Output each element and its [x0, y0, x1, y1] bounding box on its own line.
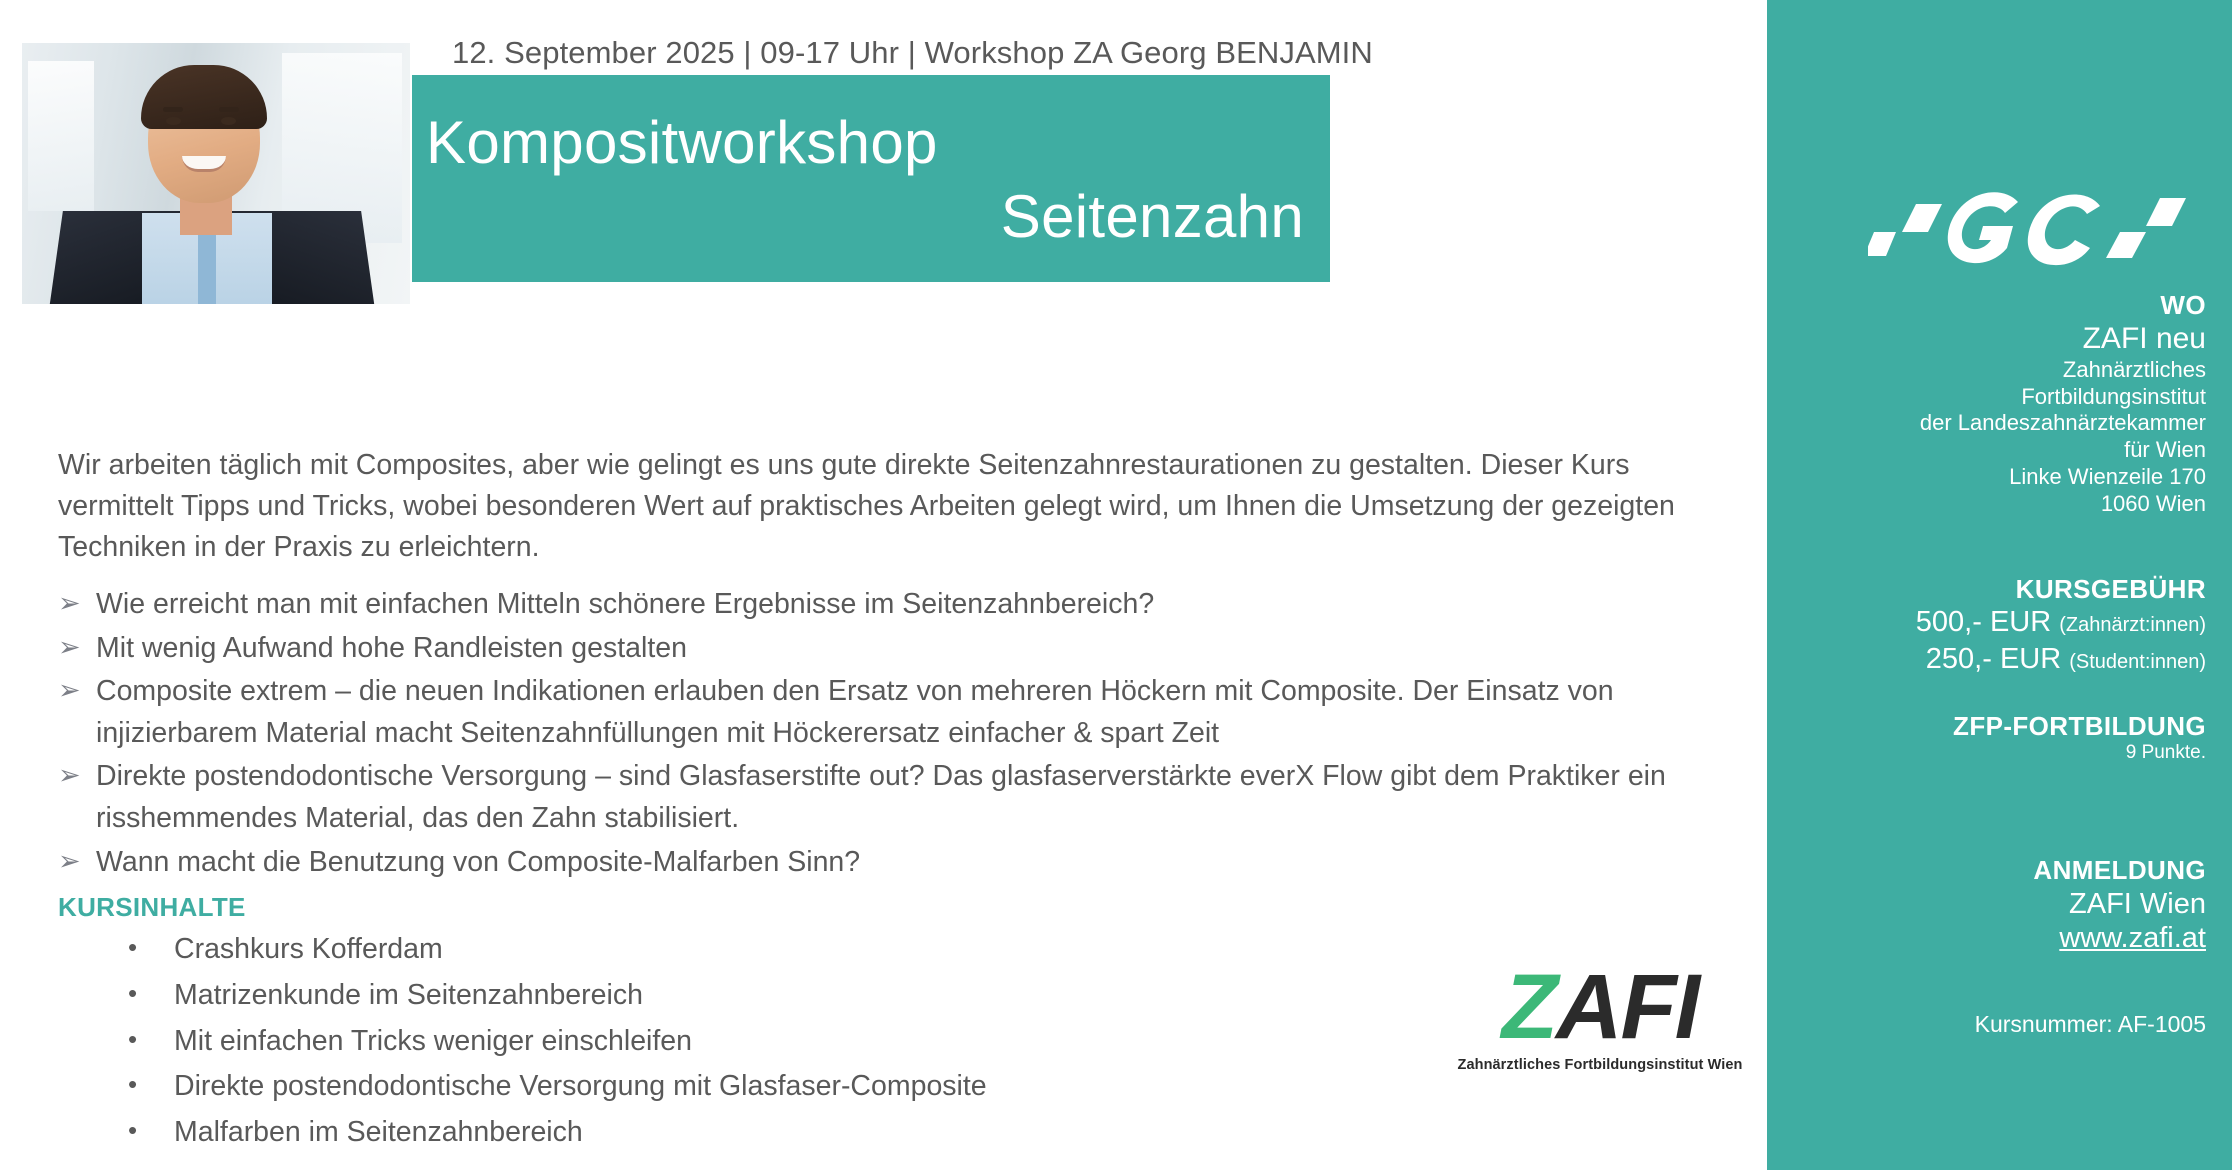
photo-eyebrow-left [163, 107, 183, 112]
list-item-text: Matrizenkunde im Seitenzahnbereich [174, 974, 1228, 1017]
course-title-line-2: Seitenzahn [412, 185, 1330, 248]
dot-bullet-icon: • [128, 928, 174, 971]
kursinhalte-heading: KURSINHALTE [58, 892, 246, 923]
photo-eye-right [221, 117, 236, 125]
fee-note-2: (Student:innen) [2069, 651, 2206, 673]
kursinhalte-list: • Crashkurs Kofferdam • Matrizenkunde im… [128, 928, 1228, 1157]
list-item: • Matrizenkunde im Seitenzahnbereich [128, 974, 1228, 1017]
spacer [1794, 821, 2206, 855]
zafi-logo-tagline: Zahnärztliches Fortbildungsinstitut Wien [1455, 1057, 1745, 1073]
photo-eye-left [166, 117, 181, 125]
list-item-text: Mit einfachen Tricks weniger einschleife… [174, 1020, 1228, 1063]
list-item: ➢ Wann macht die Benutzung von Composite… [58, 842, 1718, 884]
zafi-wordmark: ZAFI [1455, 963, 1745, 1051]
list-item: • Mit einfachen Tricks weniger einschlei… [128, 1020, 1228, 1063]
photo-eyebrow-right [219, 107, 239, 112]
wo-city: 1060 Wien [1794, 491, 2206, 518]
list-item-text: Direkte postendodontische Versorgung mit… [174, 1065, 1228, 1108]
list-item-text: Wann macht die Benutzung von Composite-M… [96, 842, 1718, 884]
course-title-banner: Kompositworkshop Seitenzahn [412, 75, 1330, 282]
list-item-text: Malfarben im Seitenzahnbereich [174, 1111, 1228, 1154]
arrow-bullet-icon: ➢ [58, 842, 96, 884]
arrow-bullet-icon: ➢ [58, 671, 96, 754]
list-item-text: Mit wenig Aufwand hohe Randleisten gesta… [96, 628, 1718, 670]
zfp-points: 9 Punkte. [1794, 741, 2206, 765]
photo-window-left [28, 61, 94, 211]
list-item-text: Crashkurs Kofferdam [174, 928, 1228, 971]
kursgebuehr-heading: KURSGEBÜHR [1794, 574, 2206, 605]
arrow-bullet-icon: ➢ [58, 584, 96, 626]
list-item-text: Wie erreicht man mit einfachen Mitteln s… [96, 584, 1718, 626]
wo-line-1: Zahnärztliches [1794, 357, 2206, 384]
fee-row-2: 250,- EUR (Student:innen) [1794, 641, 2206, 677]
list-item: ➢ Mit wenig Aufwand hohe Randleisten ges… [58, 628, 1718, 670]
anmeldung-org: ZAFI Wien [1794, 886, 2206, 922]
kursnummer: Kursnummer: AF-1005 [1794, 1011, 2206, 1038]
wo-heading: WO [1794, 290, 2206, 321]
list-item: • Crashkurs Kofferdam [128, 928, 1228, 971]
list-item-text: Direkte postendodontische Versorgung – s… [96, 756, 1718, 839]
fee-amount-2: 250,- EUR [1926, 643, 2061, 675]
fee-row-1: 500,- EUR (Zahnärzt:innen) [1794, 604, 2206, 640]
zafi-logo-afi: AFI [1556, 956, 1698, 1058]
zafi-logo: ZAFI Zahnärztliches Fortbildungsinstitut… [1455, 963, 1745, 1093]
sidebar-info-text: WO ZAFI neu Zahnärztliches Fortbildungsi… [1794, 290, 2206, 1038]
arrow-bullet-icon: ➢ [58, 756, 96, 839]
dot-bullet-icon: • [128, 1020, 174, 1063]
course-title-line-1: Kompositworkshop [412, 111, 1330, 174]
list-item: • Malfarben im Seitenzahnbereich [128, 1111, 1228, 1154]
zfp-heading: ZFP-FORTBILDUNG [1794, 711, 2206, 742]
dot-bullet-icon: • [128, 1111, 174, 1154]
dot-bullet-icon: • [128, 1065, 174, 1108]
fee-amount-1: 500,- EUR [1916, 606, 2051, 638]
list-item: • Direkte postendodontische Versorgung m… [128, 1065, 1228, 1108]
gc-logo-icon [1868, 158, 2198, 268]
list-item: ➢ Composite extrem – die neuen Indikatio… [58, 671, 1718, 754]
arrow-bullet-icon: ➢ [58, 628, 96, 670]
flyer-page: 12. September 2025 | 09-17 Uhr | Worksho… [0, 0, 2232, 1170]
wo-line-4: für Wien [1794, 437, 2206, 464]
spacer [1794, 518, 2206, 574]
photo-tie [198, 233, 216, 304]
main-content: 12. September 2025 | 09-17 Uhr | Worksho… [0, 0, 1767, 1170]
zafi-logo-z: Z [1502, 956, 1556, 1058]
speaker-portrait-photo [22, 43, 410, 304]
zafi-website-link[interactable]: www.zafi.at [2059, 922, 2206, 954]
list-item: ➢ Direkte postendodontische Versorgung –… [58, 756, 1718, 839]
list-item-text: Composite extrem – die neuen Indikatione… [96, 671, 1718, 754]
spacer [1794, 765, 2206, 821]
wo-line-2: Fortbildungsinstitut [1794, 384, 2206, 411]
event-dateline: 12. September 2025 | 09-17 Uhr | Worksho… [452, 35, 1373, 71]
intro-paragraph: Wir arbeiten täglich mit Composites, abe… [58, 445, 1700, 567]
info-sidebar: WO ZAFI neu Zahnärztliches Fortbildungsi… [1767, 0, 2232, 1170]
spacer [1794, 677, 2206, 711]
wo-venue: ZAFI neu [1794, 321, 2206, 357]
spacer [1794, 955, 2206, 1011]
wo-line-3: der Landeszahnärztekammer [1794, 410, 2206, 437]
anmeldung-link-row: www.zafi.at [1794, 922, 2206, 955]
wo-street: Linke Wienzeile 170 [1794, 464, 2206, 491]
list-item: ➢ Wie erreicht man mit einfachen Mitteln… [58, 584, 1718, 626]
dot-bullet-icon: • [128, 974, 174, 1017]
fee-note-1: (Zahnärzt:innen) [2059, 614, 2206, 636]
course-questions-list: ➢ Wie erreicht man mit einfachen Mitteln… [58, 584, 1718, 885]
anmeldung-heading: ANMELDUNG [1794, 855, 2206, 886]
